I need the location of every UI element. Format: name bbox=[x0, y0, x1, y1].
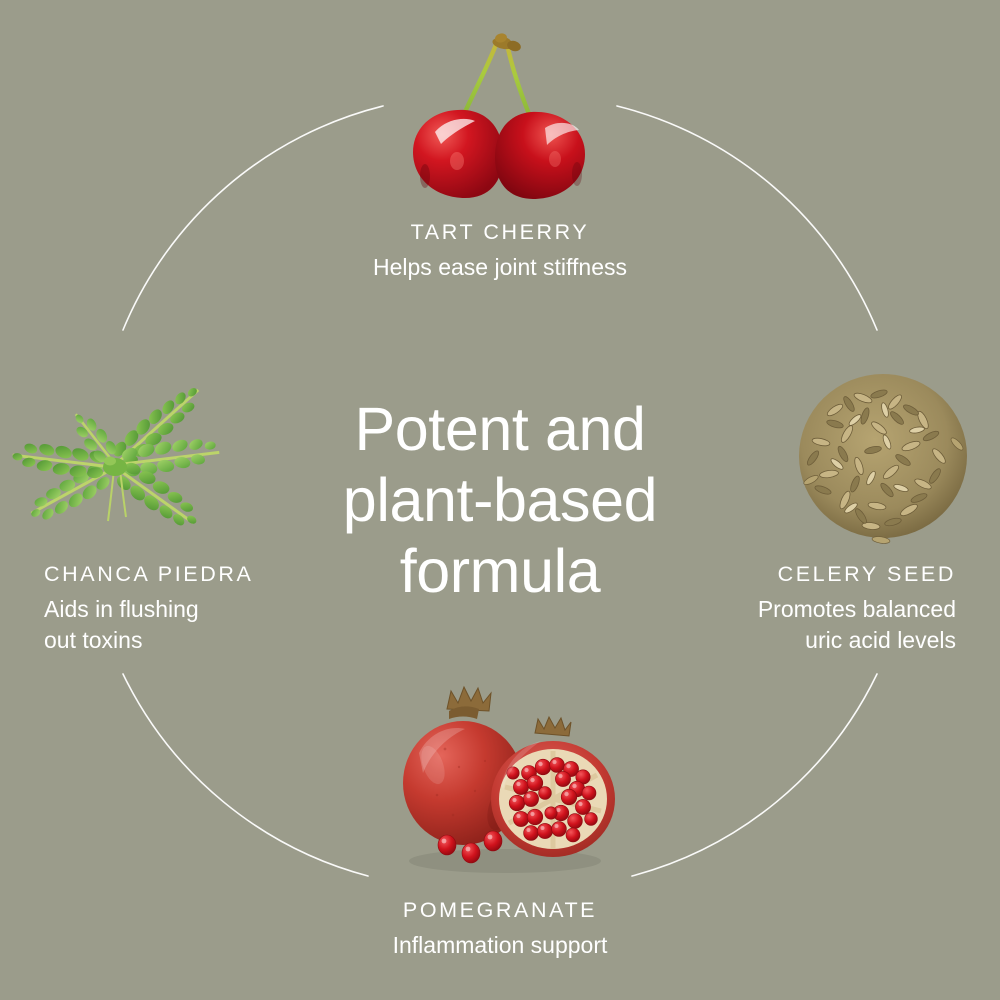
pomegranate-subtitle: Inflammation support bbox=[393, 930, 608, 961]
chanca-piedra-subtitle: Aids in flushing out toxins bbox=[44, 594, 253, 655]
pomegranate-image bbox=[385, 675, 625, 880]
headline: Potent and plant-based formula bbox=[290, 394, 710, 606]
tart-cherry-title: TART CHERRY bbox=[373, 220, 627, 245]
ingredient-infographic: Potent and plant-based formula TART CHER… bbox=[0, 0, 1000, 1000]
celery-seed-subtitle: Promotes balanced uric acid levels bbox=[758, 594, 956, 655]
celery-seed-image bbox=[785, 358, 985, 553]
tart-cherry-subtitle: Helps ease joint stiffness bbox=[373, 252, 627, 283]
label-pomegranate: POMEGRANATE Inflammation support bbox=[393, 898, 608, 961]
label-chanca-piedra: CHANCA PIEDRA Aids in flushing out toxin… bbox=[44, 562, 253, 655]
headline-line-1: Potent and bbox=[290, 394, 710, 465]
ring-arc-top-right bbox=[617, 106, 877, 330]
celery-seed-subtitle-line-1: Promotes balanced bbox=[758, 594, 956, 625]
headline-line-2: plant-based bbox=[290, 465, 710, 536]
celery-seed-subtitle-line-2: uric acid levels bbox=[758, 625, 956, 656]
chanca-piedra-title: CHANCA PIEDRA bbox=[44, 562, 253, 587]
label-celery-seed: CELERY SEED Promotes balanced uric acid … bbox=[758, 562, 956, 655]
chanca-piedra-subtitle-line-2: out toxins bbox=[44, 625, 253, 656]
headline-line-3: formula bbox=[290, 535, 710, 606]
chanca-piedra-subtitle-line-1: Aids in flushing bbox=[44, 594, 253, 625]
ring-arc-bottom-left bbox=[123, 674, 368, 876]
ring-arc-bottom-right bbox=[632, 674, 877, 876]
label-tart-cherry: TART CHERRY Helps ease joint stiffness bbox=[373, 220, 627, 283]
celery-seed-title: CELERY SEED bbox=[758, 562, 956, 587]
tart-cherry-image bbox=[395, 28, 600, 213]
chanca-piedra-image bbox=[2, 355, 227, 550]
ring-arc-top-left bbox=[123, 106, 383, 330]
pomegranate-title: POMEGRANATE bbox=[393, 898, 608, 923]
